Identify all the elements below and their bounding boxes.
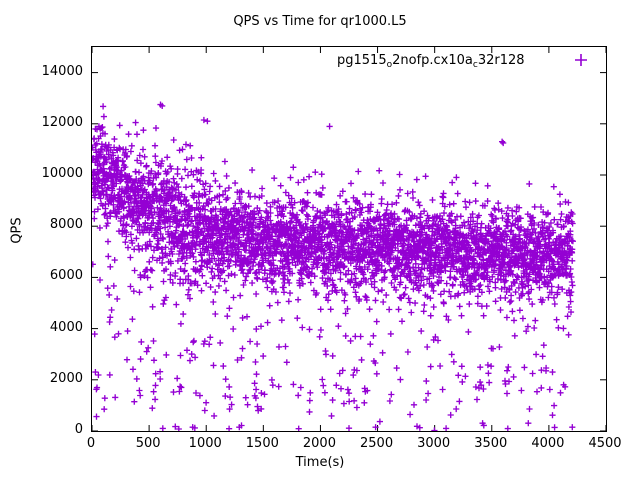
y-tick-label: 2000 [9, 371, 83, 386]
legend: pg1515o2nofp.cx10ac32r128 [337, 51, 525, 69]
y-tick-label: 10000 [9, 166, 83, 181]
scatter-plot-canvas [92, 47, 606, 431]
data-points-series-0 [92, 102, 576, 432]
page-title: QPS vs Time for qr1000.L5 [0, 14, 640, 29]
gnuplot-chart-window: QPS vs Time for qr1000.L5 QPS Time(s) 02… [0, 0, 640, 480]
y-tick-label: 12000 [9, 115, 83, 130]
legend-marker-plus-icon [573, 52, 589, 68]
x-tick-label: 4500 [565, 436, 640, 451]
x-axis-label: Time(s) [0, 455, 640, 470]
y-tick-label: 14000 [9, 64, 83, 79]
scatter-markers [92, 102, 576, 432]
y-tick-label: 0 [9, 422, 83, 437]
y-tick-label: 8000 [9, 217, 83, 232]
y-tick-label: 6000 [9, 268, 83, 283]
plot-area [91, 46, 607, 432]
y-tick-label: 4000 [9, 320, 83, 335]
legend-entry-label: pg1515o2nofp.cx10ac32r128 [337, 53, 525, 68]
